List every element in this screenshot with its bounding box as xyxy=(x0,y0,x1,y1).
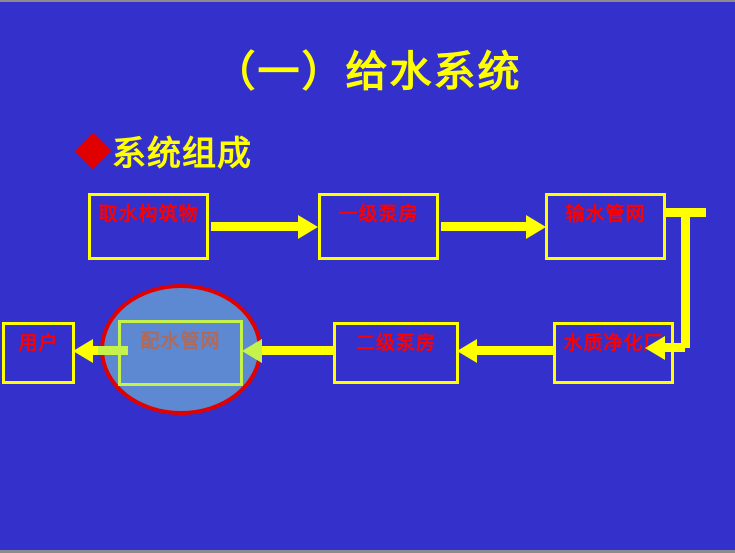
diagram-node-transport-network[interactable]: 输水管网 xyxy=(545,193,666,260)
edge-pump2-to-distribution-arrowhead-overlay-icon xyxy=(242,339,262,363)
edge-intake-to-pump1-line xyxy=(211,222,301,231)
subtitle-block: 系统组成 xyxy=(80,126,252,175)
red-diamond-icon xyxy=(75,132,112,169)
node-label: 一级泵房 xyxy=(338,199,418,226)
diagram-node-users[interactable]: 用户 xyxy=(2,322,75,384)
node-label: 输水管网 xyxy=(565,199,645,226)
edge-transport-to-plant-segment-down xyxy=(681,208,690,348)
diagram-node-intake[interactable]: 取水构筑物 xyxy=(88,193,209,260)
edge-distribution-to-users-arrowhead-icon xyxy=(73,339,93,363)
edge-plant-to-pump2-line xyxy=(472,346,555,355)
edge-pump1-to-transport-line xyxy=(441,222,529,231)
edge-pump2-to-distribution-line xyxy=(257,346,335,355)
edge-distribution-to-users-line-overlay xyxy=(98,346,128,355)
diagram-node-distribution-network[interactable]: 配水管网 xyxy=(118,320,243,386)
edge-transport-to-plant-arrowhead-icon xyxy=(645,336,665,360)
slide-canvas: （一）给水系统 系统组成 取水构筑物 一级泵房 输水管网 水质净化厂 二级泵房 … xyxy=(0,0,735,553)
page-title: （一）给水系统 xyxy=(0,38,735,99)
edge-intake-to-pump1-arrowhead-icon xyxy=(298,215,318,239)
node-label: 二级泵房 xyxy=(356,328,436,355)
subtitle-label: 系统组成 xyxy=(112,126,252,175)
diagram-node-pump2[interactable]: 二级泵房 xyxy=(333,322,459,384)
node-label: 取水构筑物 xyxy=(98,199,198,226)
node-label: 配水管网 xyxy=(140,326,220,353)
node-label: 用户 xyxy=(18,328,58,355)
edge-pump1-to-transport-arrowhead-icon xyxy=(526,215,546,239)
edge-plant-to-pump2-arrowhead-icon xyxy=(457,339,477,363)
diagram-node-pump1[interactable]: 一级泵房 xyxy=(318,193,439,260)
